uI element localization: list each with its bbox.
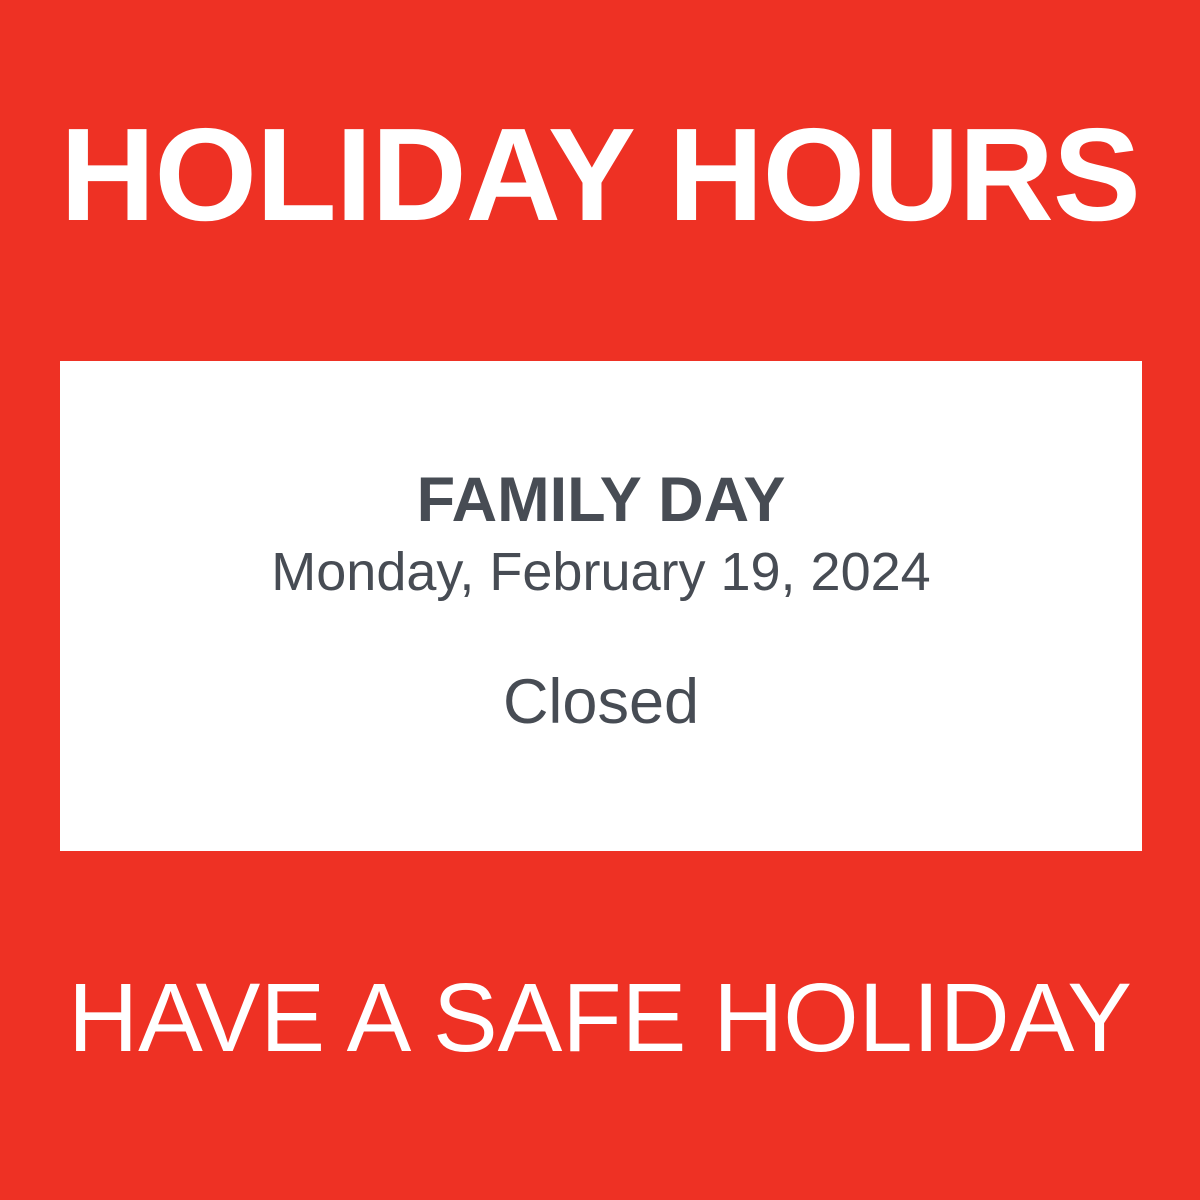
headline-band: HOLIDAY HOURS xyxy=(0,0,1200,361)
holiday-hours-sign: HOLIDAY HOURS FAMILY DAY Monday, Februar… xyxy=(0,0,1200,1200)
status-badge: Closed xyxy=(60,668,1142,737)
holiday-notice-content: FAMILY DAY Monday, February 19, 2024 Clo… xyxy=(60,466,1142,737)
holiday-date: Monday, February 19, 2024 xyxy=(60,540,1142,606)
holiday-notice-card: FAMILY DAY Monday, February 19, 2024 Clo… xyxy=(60,361,1142,851)
holiday-name: FAMILY DAY xyxy=(60,466,1142,534)
closing-message: HAVE A SAFE HOLIDAY xyxy=(68,969,1132,1066)
page-title: HOLIDAY HOURS xyxy=(60,109,1140,241)
closing-message-band: HAVE A SAFE HOLIDAY xyxy=(0,851,1200,1200)
